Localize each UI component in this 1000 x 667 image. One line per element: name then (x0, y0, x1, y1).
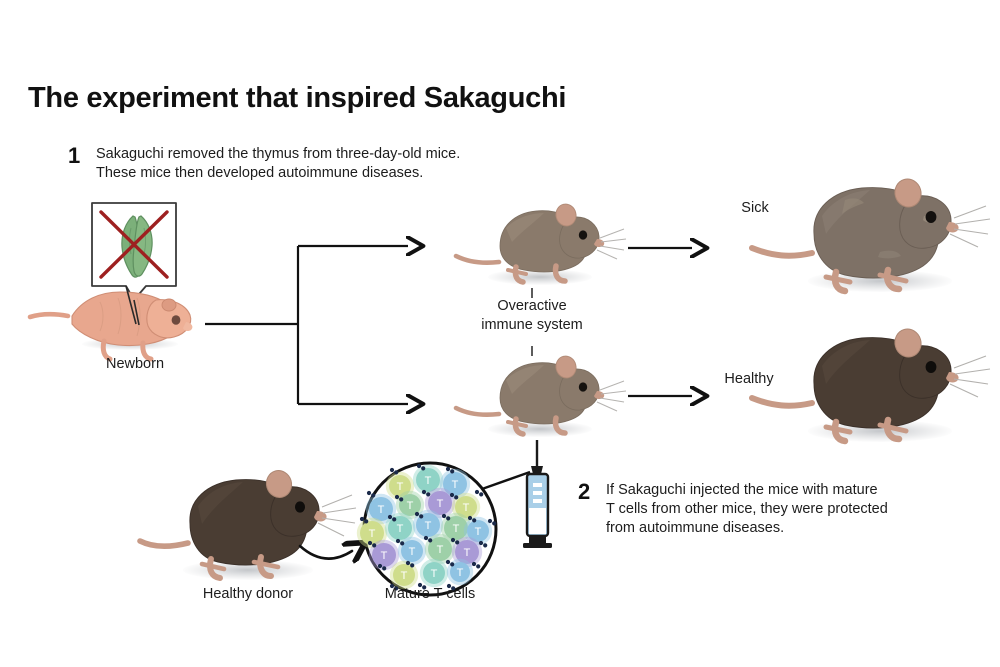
t-cell-letter: T (452, 479, 459, 491)
t-cell-letter: T (401, 570, 408, 582)
t-cell-letter: T (464, 547, 471, 559)
infographic-canvas: The experiment that inspired Sakaguchi 1… (0, 0, 1000, 667)
caption-sick: Sick (715, 199, 795, 218)
arrow-donor-to-tcells (300, 546, 352, 559)
t-cell-letter: T (475, 526, 482, 538)
caption-newborn: Newborn (60, 355, 210, 374)
t-cell-letter: T (378, 504, 385, 516)
t-cell-letter: T (407, 500, 414, 512)
t-cell-letter: T (463, 502, 470, 514)
t-cell-letter: T (437, 544, 444, 556)
caption-mature-t-cells: Mature T cells (355, 585, 505, 604)
thymus-callout (92, 203, 176, 300)
t-cell-letter: T (437, 498, 444, 510)
t-cell-letter: T (457, 567, 464, 579)
caption-healthy-donor: Healthy donor (173, 585, 323, 604)
t-cell-letter: T (425, 475, 432, 487)
connector-tcells-to-syringe (482, 472, 530, 489)
t-cell-letter: T (397, 481, 404, 493)
t-cell-letter: T (453, 523, 460, 535)
syringe-illustration (523, 440, 552, 548)
caption-healthy: Healthy (703, 370, 795, 389)
caption-overactive-immune-system: Overactive immune system (457, 297, 607, 335)
newborn-mouse-illustration (30, 286, 192, 359)
branching-arrow (205, 246, 408, 404)
t-cell-letter: T (409, 546, 416, 558)
sick-mouse-illustration (752, 176, 990, 292)
t-cell-letter: T (425, 520, 432, 532)
healthy-donor-mouse-illustration (140, 468, 356, 580)
thymectomized-mouse-top (456, 202, 626, 285)
t-cell-letter: T (381, 550, 388, 562)
thymectomized-mouse-bottom (456, 354, 626, 437)
t-cell-letter: T (397, 523, 404, 535)
t-cell-letter: T (431, 568, 438, 580)
t-cell-letter: T (369, 528, 376, 540)
t-cell-population-circle: TTTTTTTTTTTTTTTTTTT (357, 463, 497, 595)
